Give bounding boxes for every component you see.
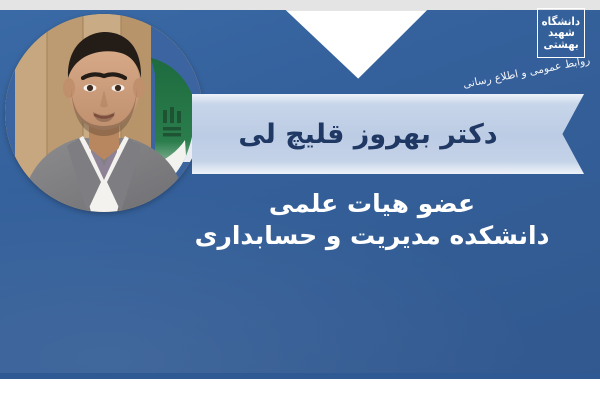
name-ribbon: دکتر بهروز قلیچ لی <box>192 94 584 174</box>
portrait-photo-icon <box>5 14 203 212</box>
panel-bottom-edge <box>0 373 600 379</box>
logo-box-frame: دانشگاه شهید بهشتی <box>537 8 585 58</box>
person-faculty: دانشکده مدیریت و حسابداری <box>172 220 572 252</box>
university-logo: دانشگاه شهید بهشتی روابط عمومی و اطلاع ر… <box>498 6 592 90</box>
person-name: دکتر بهروز قلیچ لی <box>192 94 544 174</box>
person-role: عضو هیات علمی <box>172 188 572 220</box>
titles-block: عضو هیات علمی دانشکده مدیریت و حسابداری <box>172 188 572 252</box>
avatar <box>5 14 203 212</box>
faculty-profile-card: دکتر بهروز قلیچ لی عضو هیات علمی دانشکده… <box>0 0 600 400</box>
logo-line-3: بهشتی <box>543 39 578 51</box>
